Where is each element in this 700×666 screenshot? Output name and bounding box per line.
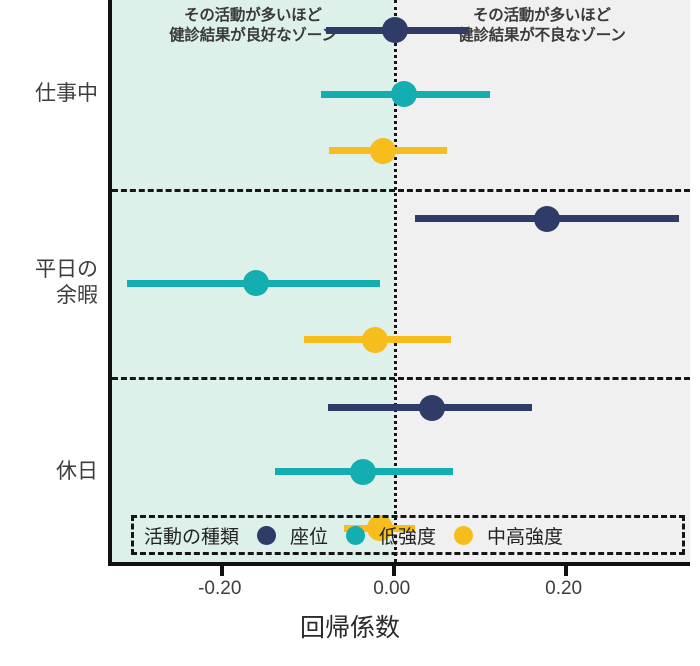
legend-color-swatch — [346, 526, 365, 545]
legend-entry-label: 低強度 — [379, 522, 436, 549]
legend-color-swatch — [454, 526, 473, 545]
legend-title: 活動の種類 — [144, 522, 239, 549]
y-axis-category-label: 休日 — [0, 459, 98, 485]
x-axis-tick — [392, 566, 396, 576]
y-axis-labels: 仕事中平日の 余暇休日 — [0, 0, 700, 566]
y-axis-category-label: 平日の 余暇 — [0, 257, 98, 310]
y-axis-category-label: 仕事中 — [0, 81, 98, 107]
legend-entry[interactable]: 中高強度 — [454, 522, 563, 549]
x-axis-tick — [220, 566, 224, 576]
legend-color-swatch — [257, 526, 276, 545]
forest-plot-figure: その活動が多いほど 健診結果が良好なゾーン その活動が多いほど 健診結果が不良な… — [0, 0, 700, 666]
legend-entries: 座位低強度中高強度 — [239, 522, 563, 549]
legend-entry[interactable]: 座位 — [257, 522, 328, 549]
x-axis-title: 回帰係数 — [0, 608, 700, 644]
x-axis-tick-label: 0.00 — [373, 578, 410, 600]
x-axis-tick-label: -0.20 — [198, 578, 241, 600]
x-axis-tick — [564, 566, 568, 576]
x-axis-tick-label: 0.20 — [545, 578, 582, 600]
legend-entry-label: 中高強度 — [487, 522, 563, 549]
legend-entry-label: 座位 — [290, 522, 328, 549]
legend-entry[interactable]: 低強度 — [346, 522, 436, 549]
legend: 活動の種類 座位低強度中高強度 — [131, 515, 685, 555]
